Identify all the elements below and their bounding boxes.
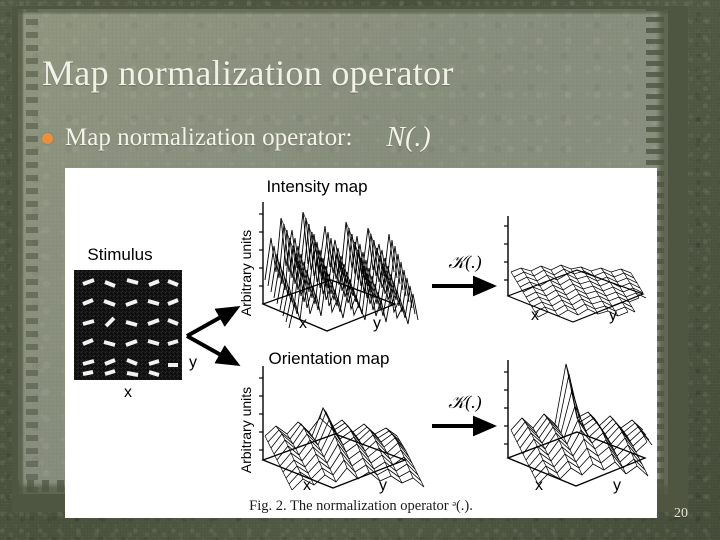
torn-edge-top [12, 6, 688, 20]
operator-top-label: 𝒦(.) [448, 252, 481, 273]
intensity-map-ylabel: Arbitrary units [238, 230, 254, 316]
stimulus-xlabel: x [124, 384, 132, 401]
intensity-map-title: Intensity map [266, 177, 367, 196]
bullet-dot-icon [42, 133, 53, 144]
figure-image-panel: Stimulus [65, 168, 657, 518]
stimulus-label: Stimulus [87, 245, 152, 264]
bullet-item-label: Map normalization operator: [65, 124, 352, 152]
page-title: Map normalization operator [42, 52, 454, 94]
intensity-map-yaxislabel: y [373, 315, 381, 332]
intensity-output-ylabel: y [609, 307, 617, 324]
operator-bottom-label: 𝒦(.) [448, 392, 481, 413]
orientation-map-title: Orientation map [269, 349, 390, 368]
orientation-output-ylabel: y [613, 477, 621, 494]
orientation-map-yaxislabel: y [379, 477, 387, 494]
page-number: 20 [674, 506, 688, 522]
stimulus-ylabel: y [189, 354, 197, 371]
figure-diagram: Stimulus [65, 168, 657, 518]
slide-canvas: Map normalization operator Map normaliza… [0, 0, 720, 540]
intensity-output-xlabel: x [531, 307, 539, 324]
bullet-item-formula: N(.) [386, 122, 430, 154]
orientation-output-xlabel: x [535, 477, 543, 494]
orientation-map-ylabel: Arbitrary units [238, 387, 254, 473]
intensity-map-xlabel: x [299, 315, 307, 332]
orientation-map-xlabel: x [303, 477, 311, 494]
torn-edge-left [12, 6, 34, 512]
figure-caption: Fig. 2. The normalization operator ᵊ(.). [249, 498, 473, 514]
bullet-list-item: Map normalization operator: N(.) [42, 122, 431, 154]
